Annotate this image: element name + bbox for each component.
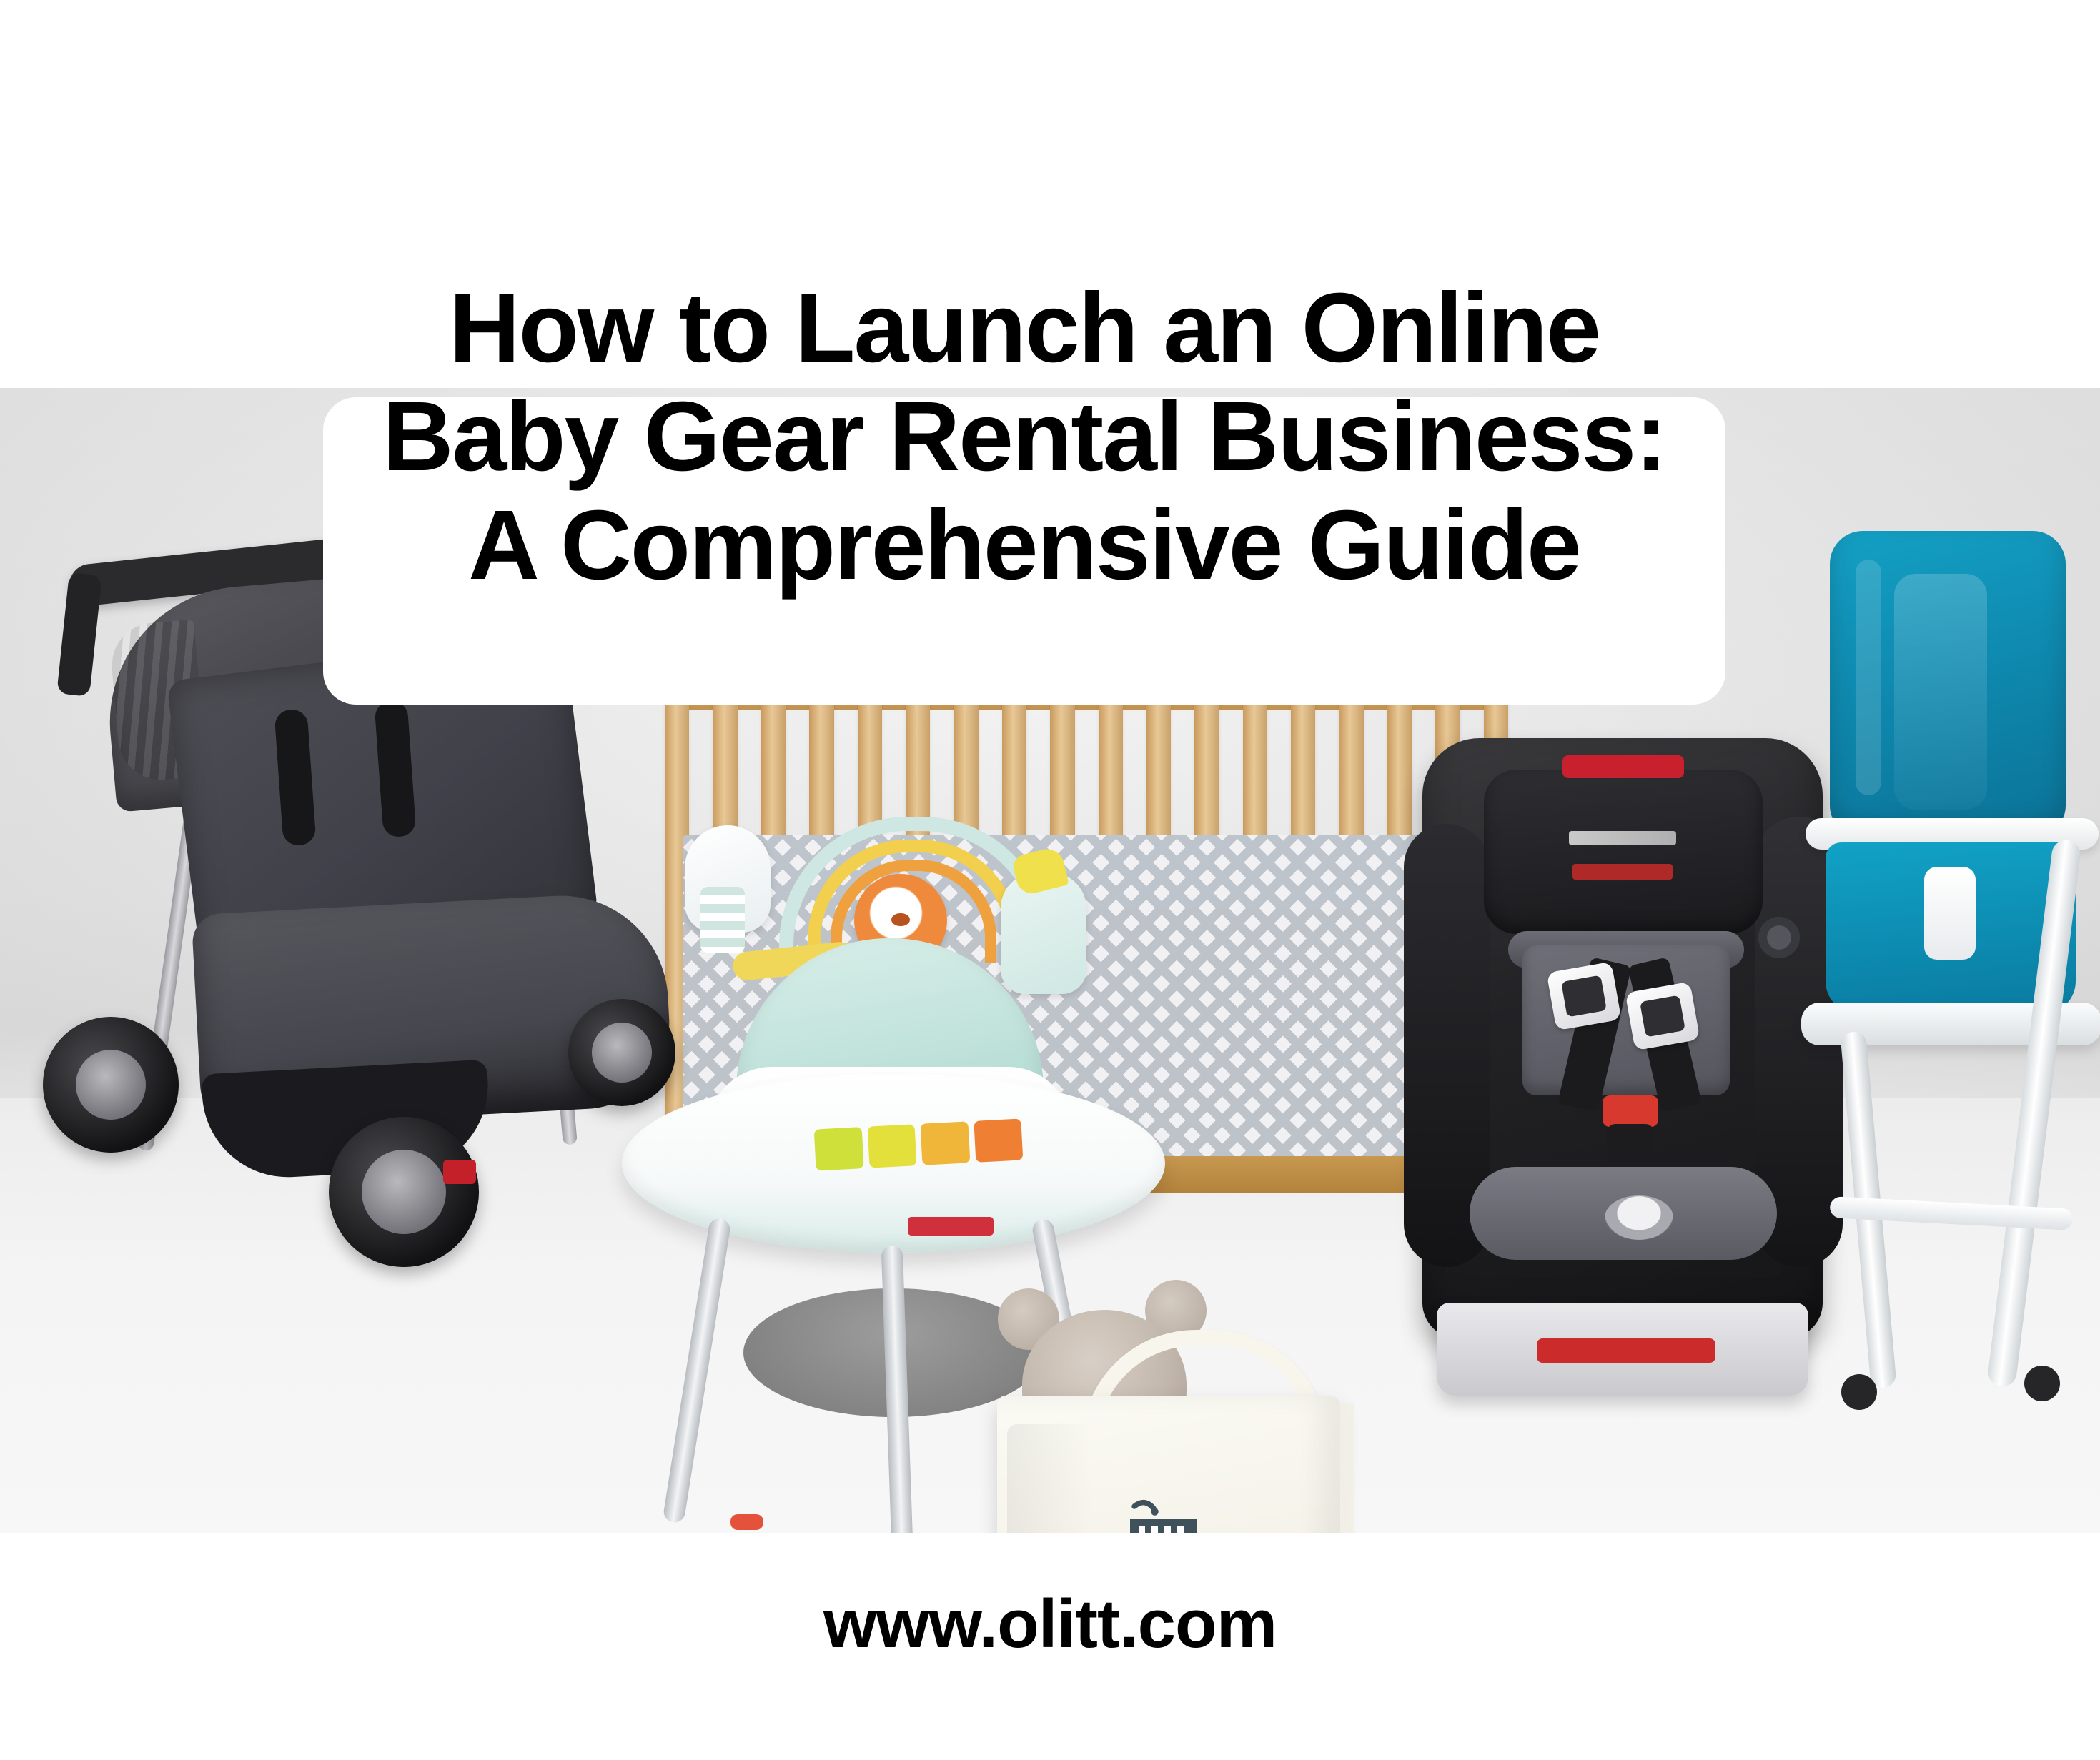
- car-seat-model-label: [1572, 864, 1673, 880]
- car-seat-headrest: [1484, 770, 1763, 934]
- baby-carriage-icon: [1115, 1496, 1222, 1533]
- title-line-2: Baby Gear Rental Business:: [323, 382, 1725, 491]
- title-line-1: How to Launch an Online: [323, 274, 1725, 382]
- car-seat-red-handle: [1562, 755, 1684, 778]
- jumper-toy-right: [1001, 872, 1086, 994]
- jumper-leg-1: [663, 1217, 732, 1523]
- high-chair-back-pad: [1894, 574, 1987, 810]
- page-title: How to Launch an Online Baby Gear Rental…: [323, 274, 1725, 600]
- car-seat-brand-label: [1569, 831, 1676, 845]
- high-chair: [1773, 531, 2100, 1431]
- tote-bag: BabyQuip: [997, 1317, 1369, 1533]
- stroller-brake-tab: [443, 1160, 476, 1184]
- jumper-foot-1: [730, 1514, 763, 1530]
- jumper-toy-left: [685, 825, 771, 933]
- babyquip-logo: BabyQuip: [1069, 1496, 1269, 1533]
- car-seat: [1422, 738, 1823, 1424]
- stroller-wheel-front: [329, 1117, 479, 1267]
- car-seat-base-release: [1537, 1338, 1715, 1363]
- high-chair-caster-right: [2024, 1366, 2060, 1401]
- car-seat-clip-right: [1625, 982, 1700, 1051]
- car-seat-buckle: [1603, 1095, 1658, 1127]
- high-chair-caster-left: [1841, 1374, 1877, 1410]
- title-line-3: A Comprehensive Guide: [323, 491, 1725, 600]
- car-seat-clip-left: [1547, 962, 1622, 1031]
- car-seat-harness-ring: [1605, 1195, 1673, 1240]
- stroller-handle-post: [56, 572, 102, 697]
- high-chair-crotch-post: [1924, 867, 1976, 960]
- stroller-wheel-rear: [43, 1017, 179, 1153]
- jumper-brand-badge: [908, 1217, 994, 1236]
- site-url[interactable]: www.olitt.com: [0, 1585, 2100, 1664]
